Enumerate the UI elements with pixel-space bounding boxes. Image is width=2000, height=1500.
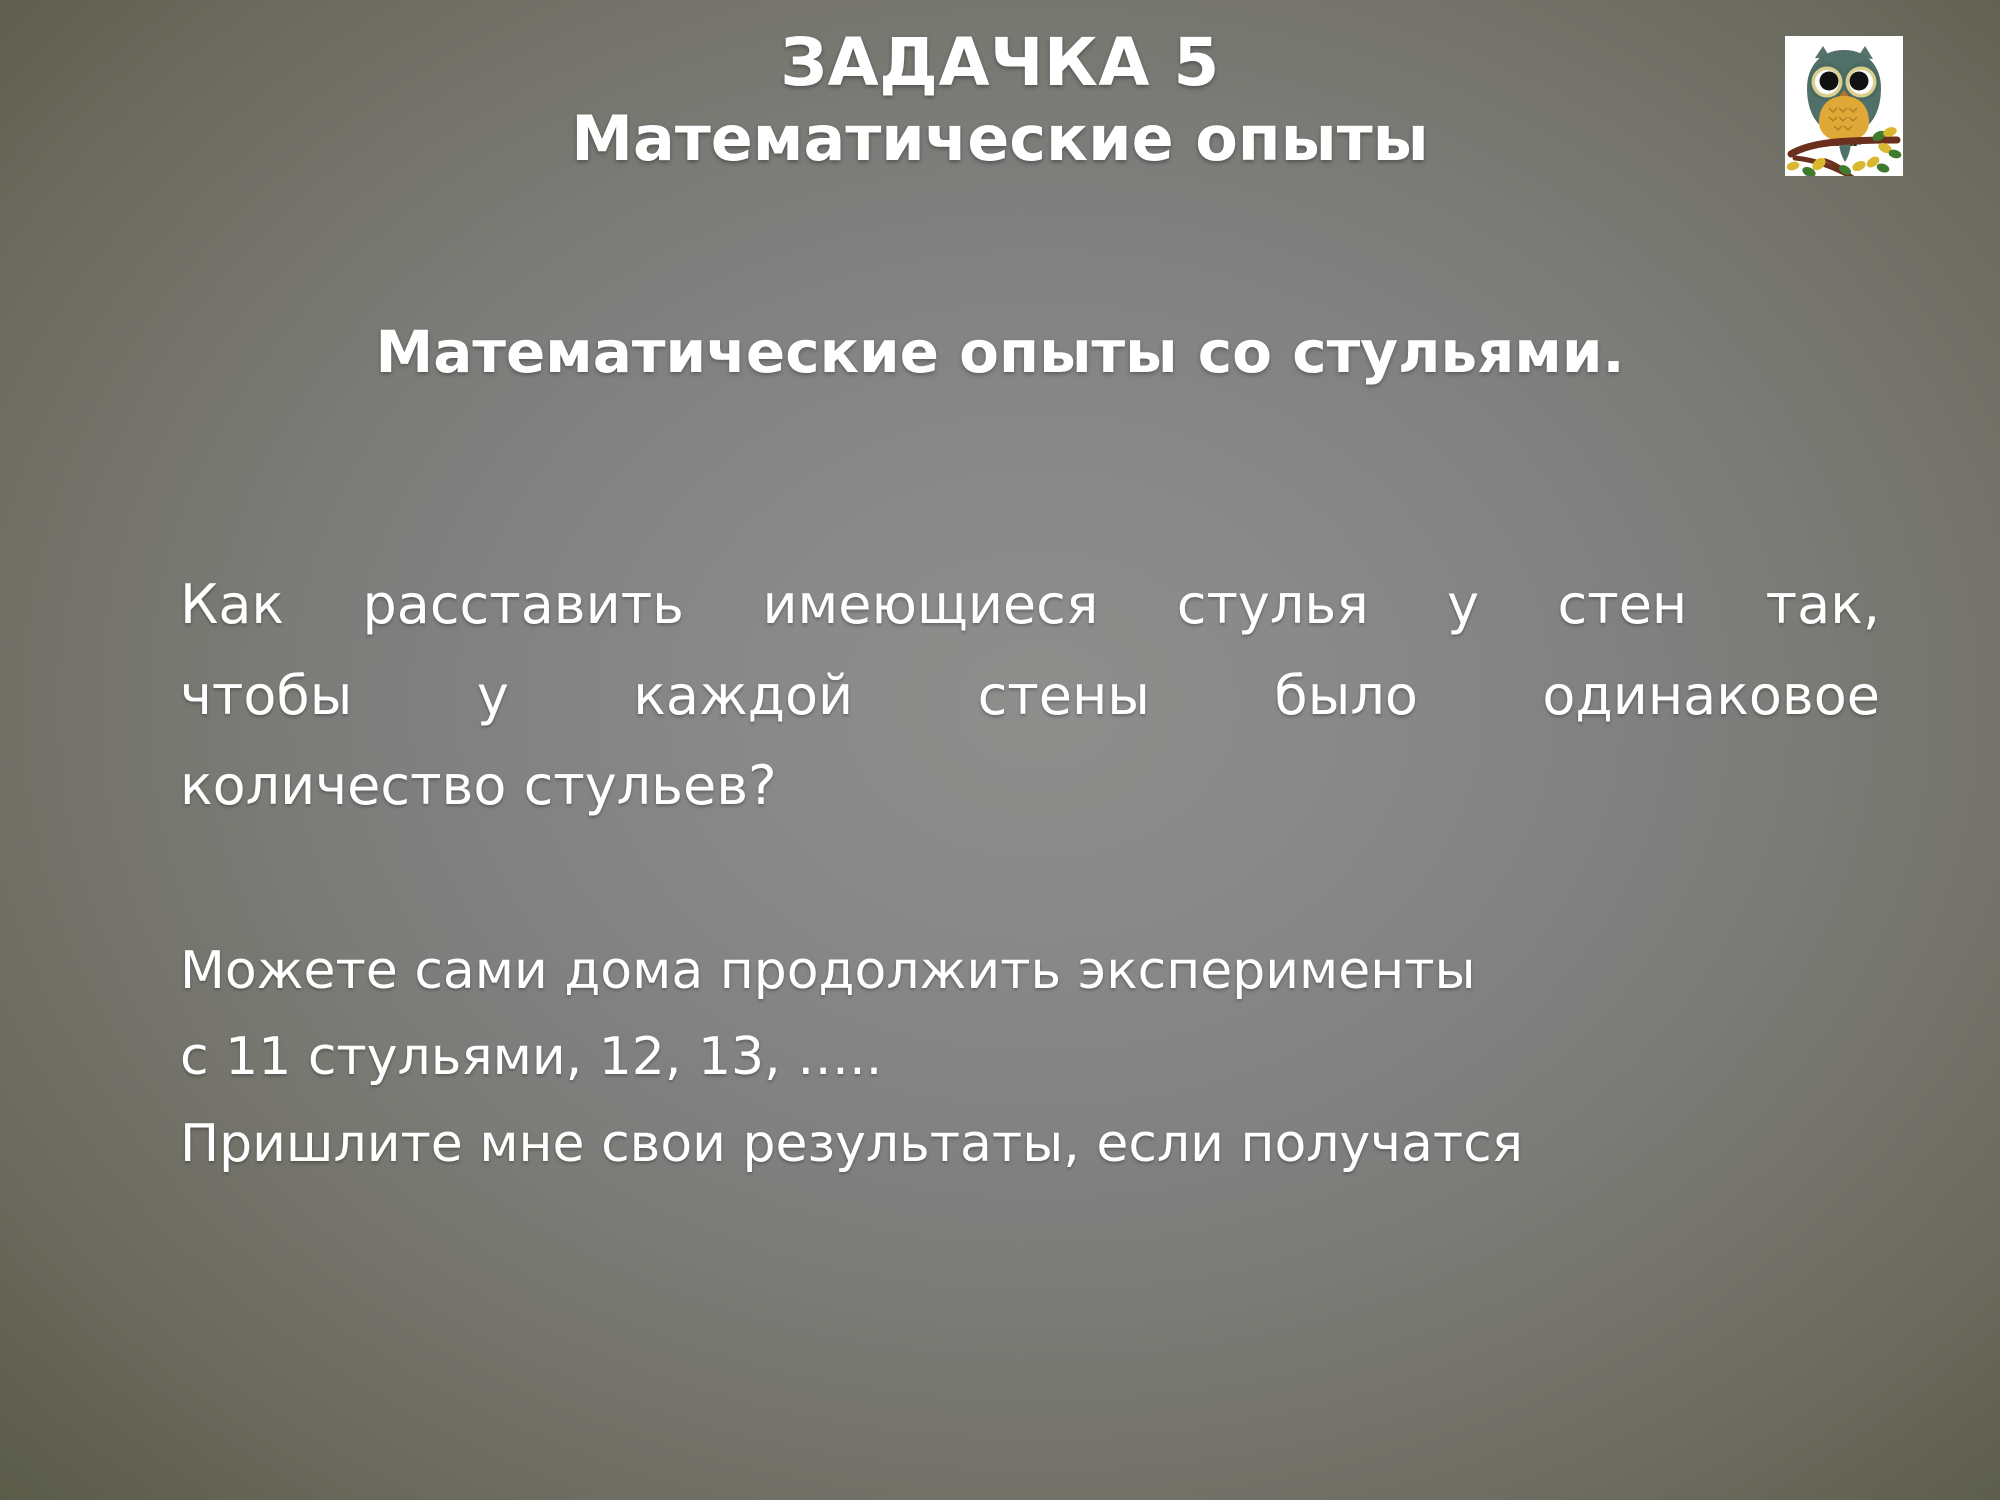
slide-subtitle: Математические опыты со стульями. [0, 318, 2000, 386]
presentation-slide: ЗАДАЧКА 5 Математические опыты [0, 0, 2000, 1500]
closing-line-1: Можете сами дома продолжить эксперименты [180, 928, 1880, 1014]
closing-line-2: с 11 стульями, 12, 13, ….. [180, 1014, 1880, 1100]
closing-line-3: Пришлите мне свои результаты, если получ… [180, 1101, 1880, 1187]
slide-title-primary: ЗАДАЧКА 5 [0, 28, 2000, 98]
slide-title-block: ЗАДАЧКА 5 Математические опыты [0, 28, 2000, 172]
question-line-3: количество стульев? [180, 741, 1880, 832]
owl-on-branch-icon [1785, 36, 1903, 176]
question-line-1: Как расставить имеющиеся стулья у стен т… [180, 560, 1880, 651]
slide-body: Как расставить имеющиеся стулья у стен т… [180, 560, 1880, 1187]
question-line-2: чтобы у каждой стены было одинаковое [180, 651, 1880, 742]
slide-title-secondary: Математические опыты [0, 106, 2000, 172]
question-paragraph: Как расставить имеющиеся стулья у стен т… [180, 560, 1880, 832]
closing-paragraph: Можете сами дома продолжить эксперименты… [180, 928, 1880, 1187]
